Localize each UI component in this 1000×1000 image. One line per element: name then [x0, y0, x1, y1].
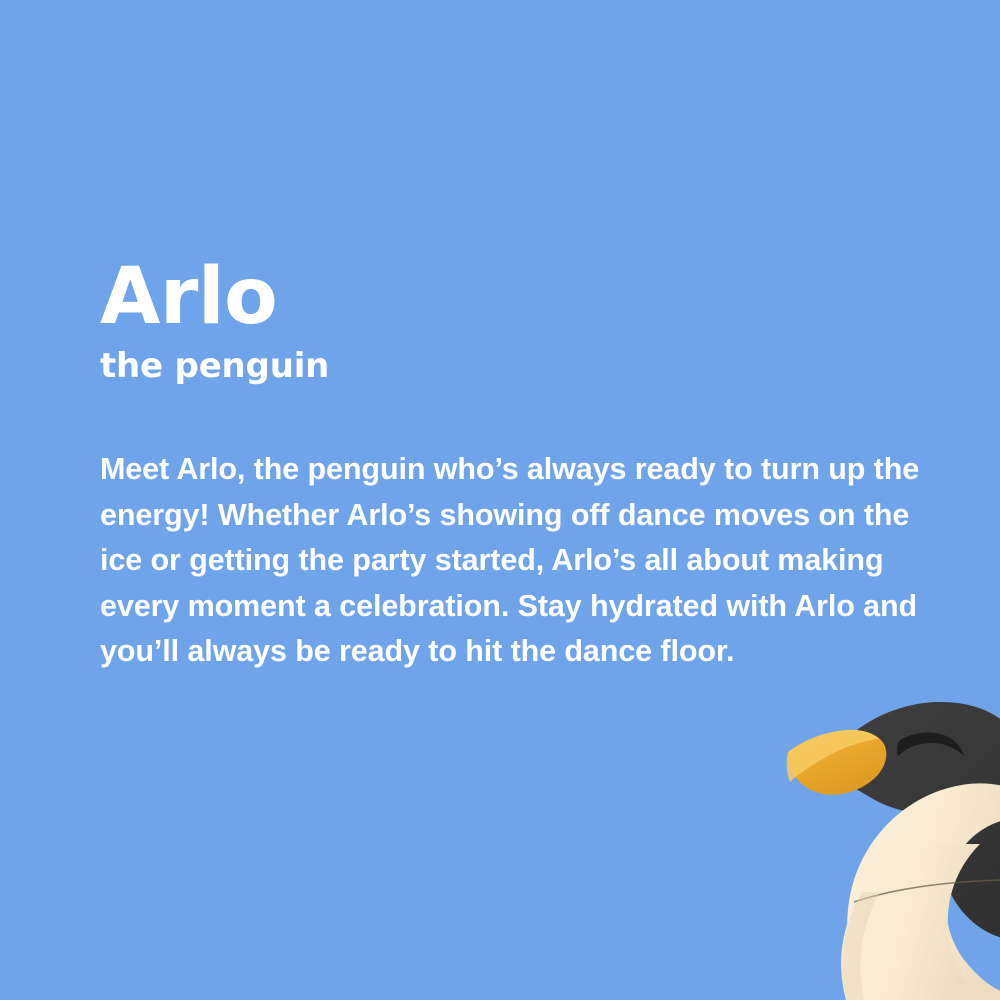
character-tagline: the penguin — [100, 348, 950, 385]
character-description: Meet Arlo, the penguin who’s always read… — [100, 447, 945, 675]
page-title: Arlo — [100, 262, 950, 334]
character-text-block: Arlo the penguin Meet Arlo, the penguin … — [100, 262, 950, 675]
penguin-dark-feathers — [824, 702, 1000, 940]
character-card: Arlo the penguin Meet Arlo, the penguin … — [0, 0, 1000, 1000]
penguin-eye — [897, 733, 964, 756]
penguin-shading — [843, 892, 880, 1000]
penguin-character-illustration — [750, 690, 1000, 1000]
penguin-body — [841, 783, 1000, 1000]
penguin-beak — [787, 730, 887, 795]
penguin-seam-line — [854, 880, 1000, 902]
